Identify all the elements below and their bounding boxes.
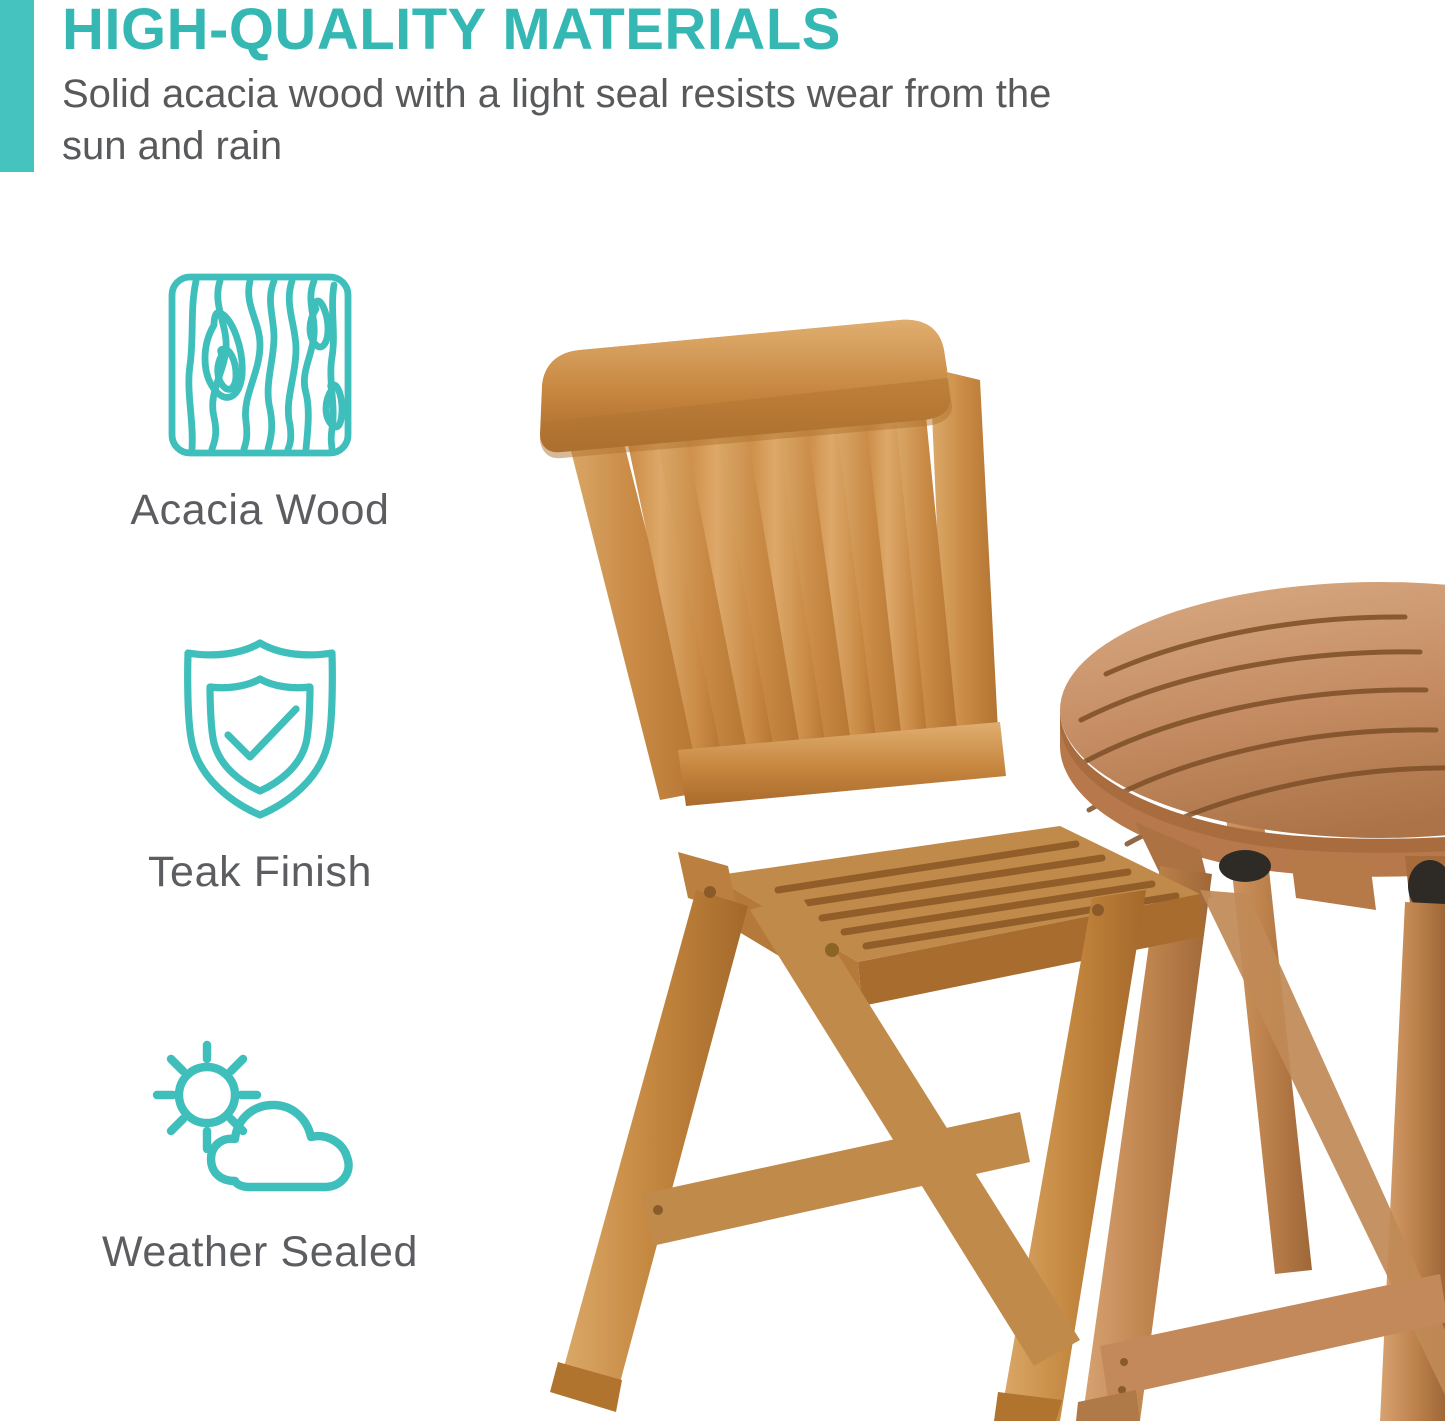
product-photo	[500, 150, 1445, 1421]
feature-label-teak-finish: Teak Finish	[0, 846, 520, 898]
page-title: HIGH-QUALITY MATERIALS	[62, 0, 1122, 62]
furniture-illustration	[500, 150, 1445, 1421]
feature-label-acacia-wood: Acacia Wood	[0, 484, 520, 536]
feature-item-teak-finish: Teak Finish	[0, 627, 520, 898]
folding-chair	[540, 320, 1204, 1421]
accent-bar	[0, 0, 34, 172]
header-text-block: HIGH-QUALITY MATERIALS Solid acacia wood…	[62, 0, 1122, 172]
feature-label-weather-sealed: Weather Sealed	[0, 1226, 520, 1278]
feature-item-acacia-wood: Acacia Wood	[0, 265, 520, 536]
feature-item-weather-sealed: Weather Sealed	[0, 1037, 520, 1278]
product-feature-panel: HIGH-QUALITY MATERIALS Solid acacia wood…	[0, 0, 1445, 1421]
shield-check-icon	[0, 627, 520, 832]
sun-cloud-icon	[0, 1037, 520, 1212]
wood-grain-icon	[0, 265, 520, 470]
